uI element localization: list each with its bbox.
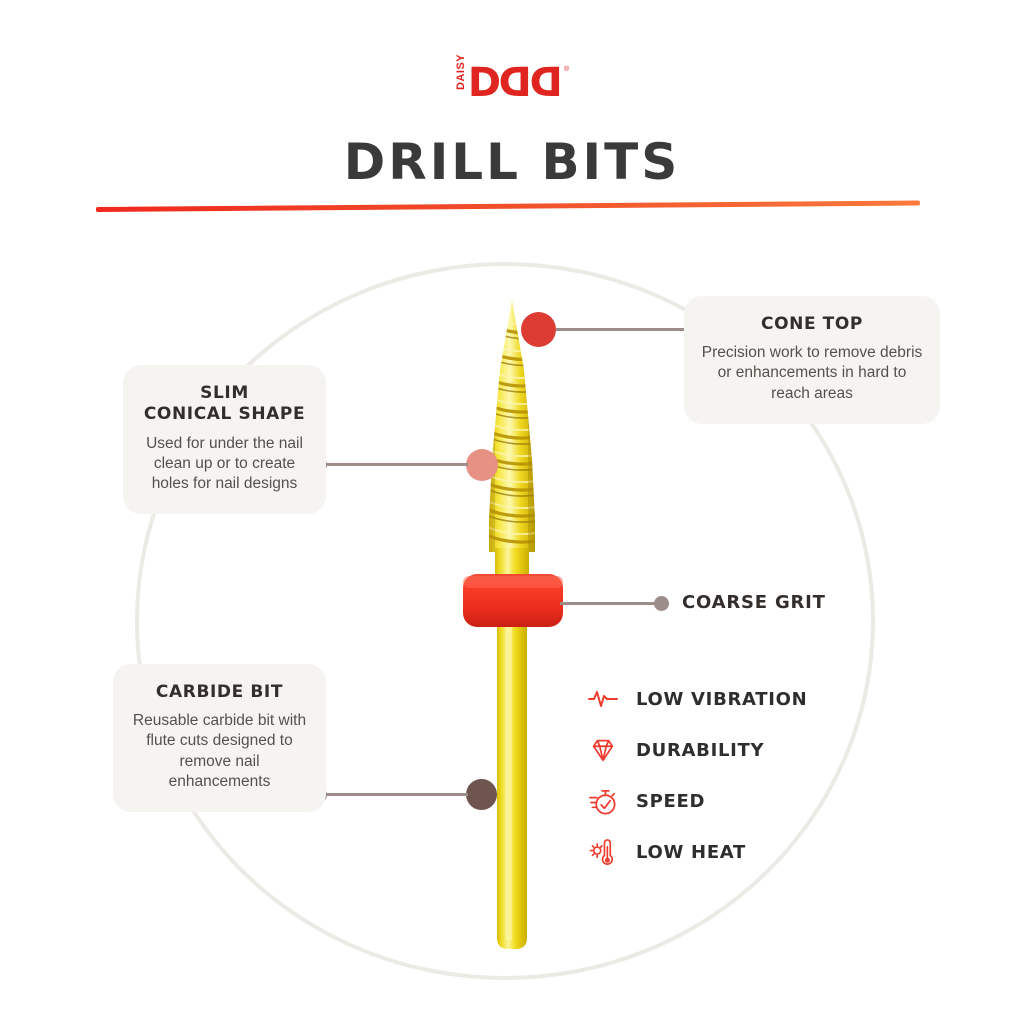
slim-conical-connector-line bbox=[320, 463, 468, 466]
feature-item-low-vibration: LOW VIBRATION bbox=[586, 682, 807, 716]
feature-label: LOW HEAT bbox=[636, 842, 746, 863]
callout-body: Reusable carbide bit with flute cuts des… bbox=[129, 711, 310, 792]
callout-cone-top: CONE TOP Precision work to remove debris… bbox=[684, 296, 940, 424]
diamond-icon bbox=[586, 733, 620, 767]
stopwatch-icon bbox=[586, 784, 620, 818]
feature-item-durability: DURABILITY bbox=[586, 733, 807, 767]
callout-body: Precision work to remove debris or enhan… bbox=[700, 343, 924, 403]
carbide-bit-marker-dot bbox=[466, 779, 497, 810]
callout-carbide-bit: CARBIDE BIT Reusable carbide bit with fl… bbox=[113, 664, 326, 812]
coarse-grit-connector-dot bbox=[654, 596, 669, 611]
carbide-bit-connector-line bbox=[320, 793, 468, 796]
cone-top-marker-dot bbox=[521, 312, 556, 347]
callout-title: SLIM CONICAL SHAPE bbox=[139, 383, 310, 426]
feature-label: DURABILITY bbox=[636, 740, 764, 761]
feature-item-low-heat: LOW HEAT bbox=[586, 835, 807, 869]
vibration-wave-icon bbox=[586, 682, 620, 716]
feature-item-speed: SPEED bbox=[586, 784, 807, 818]
callout-slim-conical-shape: SLIM CONICAL SHAPE Used for under the na… bbox=[123, 365, 326, 514]
slim-conical-marker-dot bbox=[466, 449, 498, 481]
grit-ring bbox=[463, 574, 563, 627]
infographic-canvas: DAISY DDD ® DRILL BITS bbox=[0, 0, 1024, 1024]
feature-label: SPEED bbox=[636, 791, 705, 812]
callout-body: Used for under the nail clean up or to c… bbox=[139, 434, 310, 494]
coarse-grit-connector-line bbox=[560, 602, 660, 605]
feature-label: LOW VIBRATION bbox=[636, 689, 807, 710]
callout-title: CONE TOP bbox=[700, 314, 924, 335]
callout-title: CARBIDE BIT bbox=[129, 682, 310, 703]
thermometer-sun-icon bbox=[586, 835, 620, 869]
feature-list: LOW VIBRATION DURABILITY bbox=[586, 682, 807, 869]
coarse-grit-label: COARSE GRIT bbox=[682, 592, 826, 613]
